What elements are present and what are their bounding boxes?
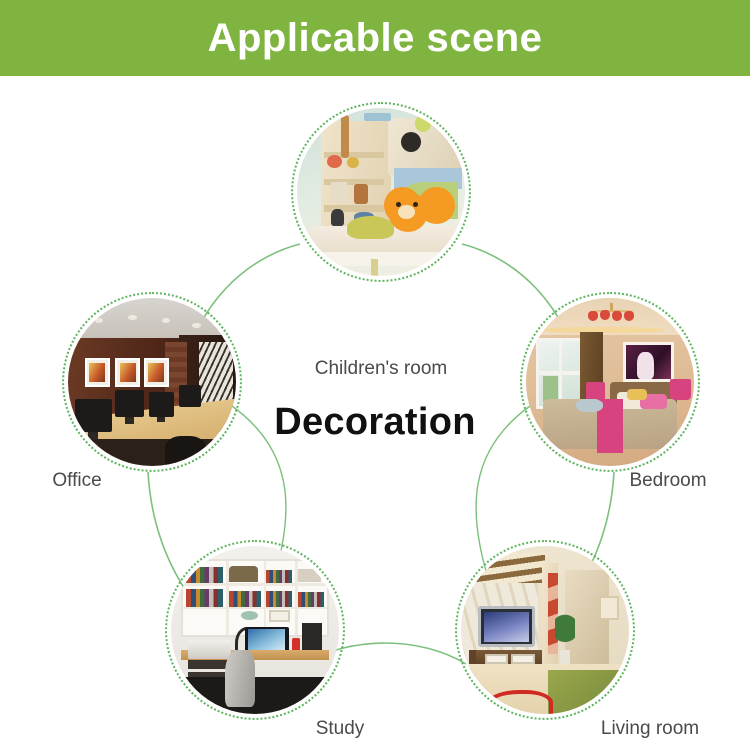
- scene-node-study[interactable]: Study: [165, 540, 345, 720]
- scene-node-office[interactable]: Office: [62, 292, 242, 472]
- scene-label-living-room: Living room: [560, 718, 740, 740]
- scene-label-office: Office: [0, 470, 167, 492]
- scene-photo-bedroom: [526, 298, 694, 466]
- page-title: Applicable scene: [208, 18, 543, 58]
- scene-label-childrens-room: Children's room: [271, 358, 491, 380]
- scene-label-study: Study: [250, 718, 430, 740]
- scene-photo-living-room: [461, 546, 629, 714]
- applicable-scene-infographic: Applicable scene Decoration: [0, 0, 750, 750]
- scene-node-bedroom[interactable]: Bedroom: [520, 292, 700, 472]
- scene-photo-study: [171, 546, 339, 714]
- scene-node-childrens-room[interactable]: Children's room: [291, 102, 471, 282]
- scene-photo-office: [68, 298, 236, 466]
- scene-diagram: Decoration: [0, 76, 750, 750]
- scene-label-bedroom: Bedroom: [578, 470, 750, 492]
- header-banner: Applicable scene: [0, 0, 750, 76]
- scene-node-living-room[interactable]: Living room: [455, 540, 635, 720]
- scene-photo-childrens-room: [297, 108, 465, 276]
